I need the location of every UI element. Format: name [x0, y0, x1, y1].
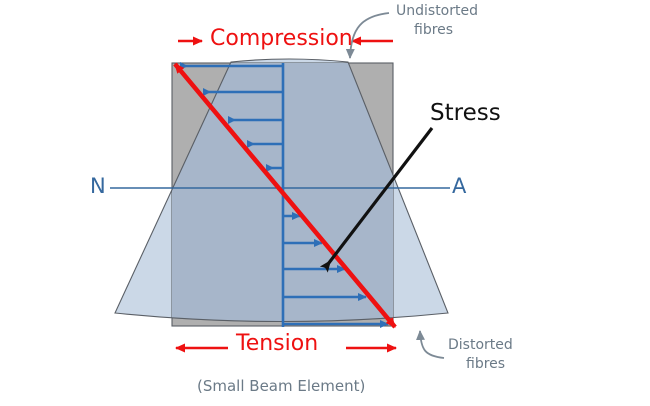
stress-label: Stress	[430, 100, 501, 126]
distorted-fibres-line2: fibres	[466, 355, 513, 374]
diagram-canvas	[0, 0, 650, 406]
compression-label: Compression	[210, 26, 353, 51]
undistorted-fibres-line1: Undistorted	[396, 3, 478, 19]
undistorted-fibres-annotation: Undistorted fibres	[396, 2, 478, 40]
distorted-fibres-line1: Distorted	[448, 337, 513, 353]
tension-label: Tension	[236, 331, 318, 356]
distorted-fibres-leader	[420, 331, 444, 358]
distorted-fibres-annotation: Distorted fibres	[448, 336, 513, 374]
caption-small-beam-element: (Small Beam Element)	[197, 377, 365, 395]
beam-stress-diagram: Compression Tension Stress N A Undistort…	[0, 0, 650, 406]
undistorted-fibres-line2: fibres	[414, 21, 478, 40]
undistorted-fibres-leader	[350, 13, 389, 58]
neutral-axis-label-n: N	[90, 174, 106, 198]
neutral-axis-label-a: A	[452, 174, 466, 198]
